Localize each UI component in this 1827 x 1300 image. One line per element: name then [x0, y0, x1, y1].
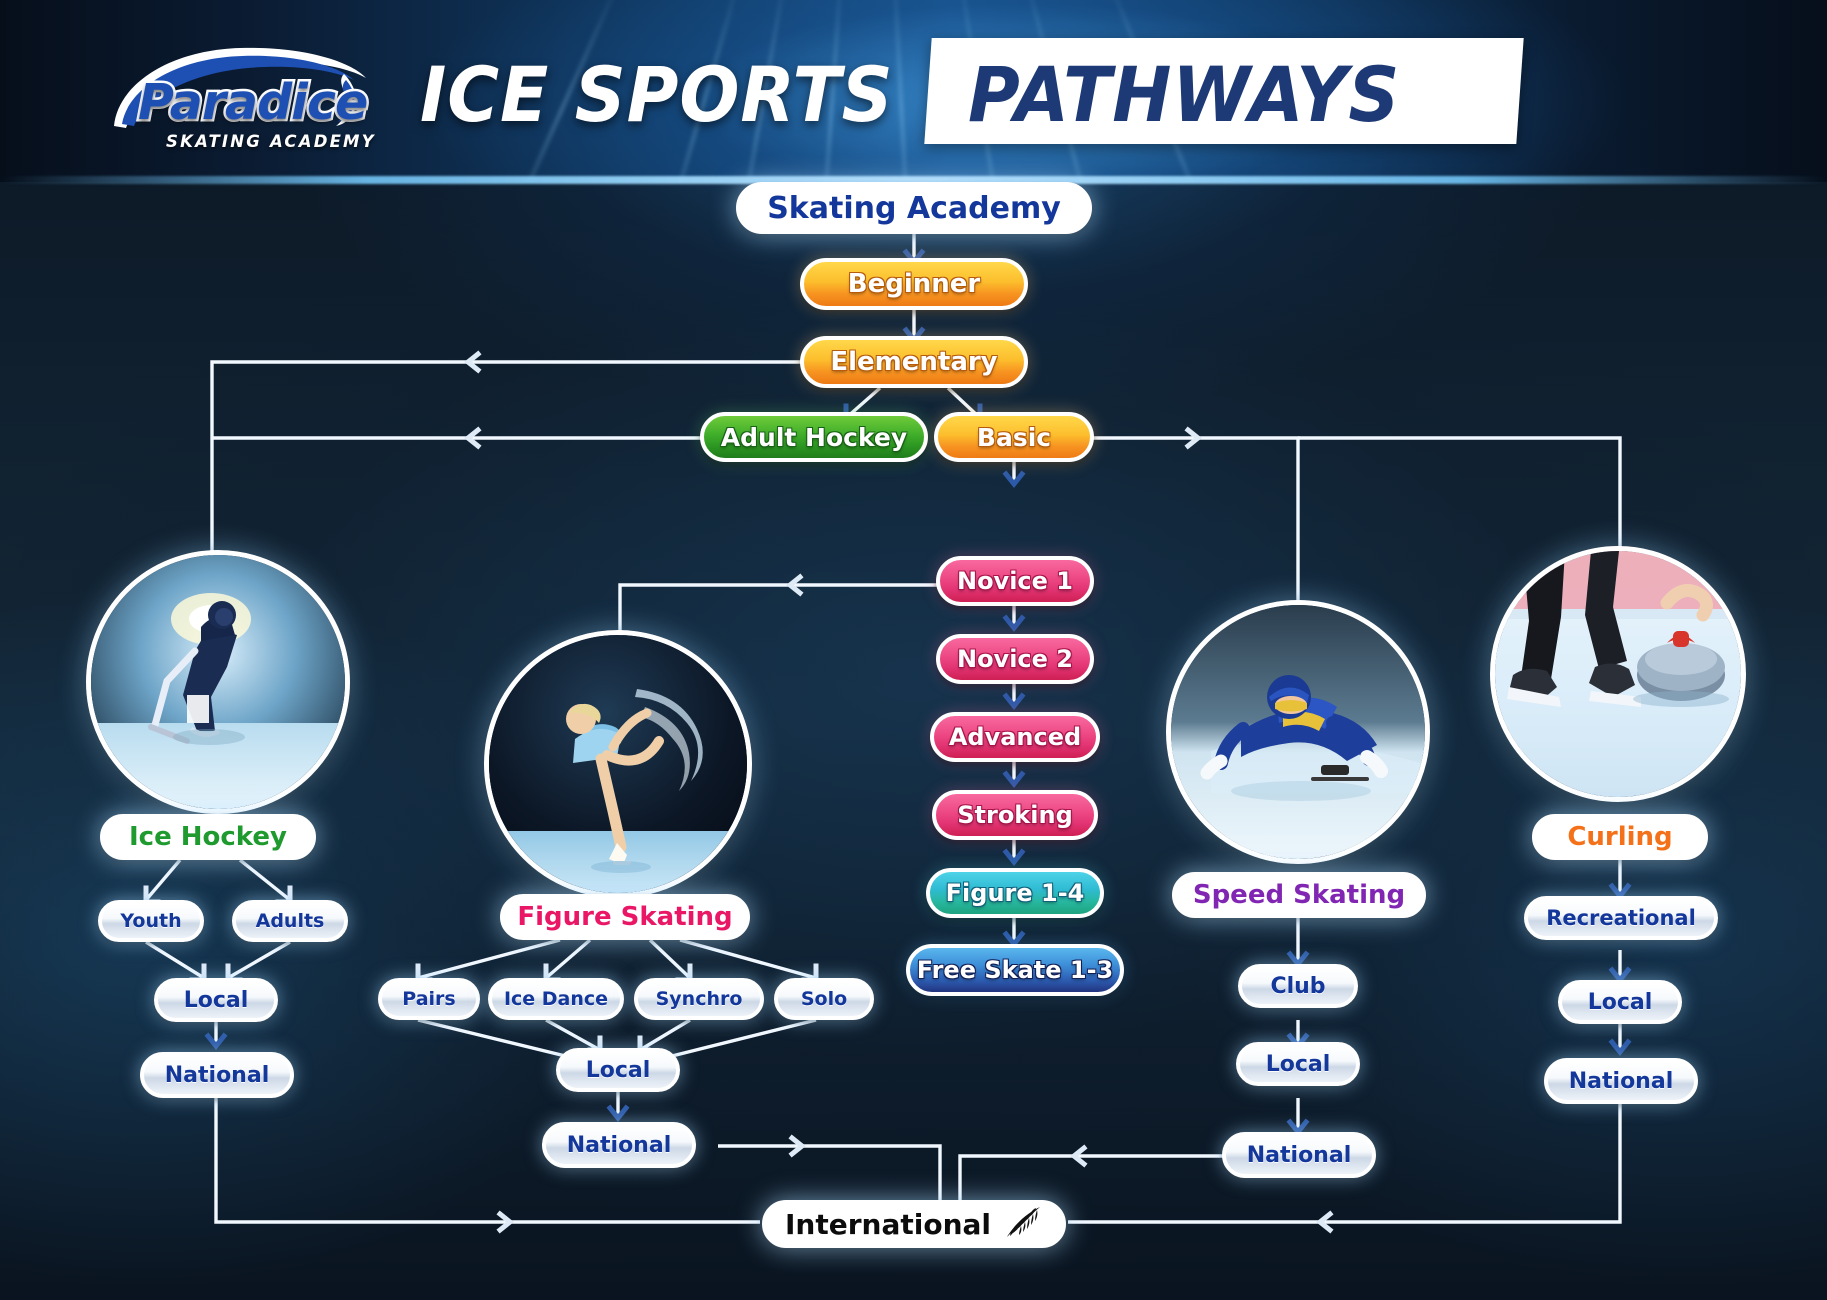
node-figure-skating-solo[interactable]: Solo	[774, 978, 874, 1020]
node-label: Beginner	[848, 269, 980, 299]
node-elementary[interactable]: Elementary	[800, 336, 1028, 388]
node-label: Pairs	[402, 988, 455, 1010]
node-figure-skating-pairs[interactable]: Pairs	[378, 978, 480, 1020]
node-label: Solo	[801, 988, 847, 1010]
paradice-logo: Paradice SKATING ACADEMY	[108, 40, 378, 158]
node-figure-skating-synchro[interactable]: Synchro	[634, 978, 764, 1020]
node-ice-hockey-adults[interactable]: Adults	[232, 900, 348, 942]
node-curling-recreational[interactable]: Recreational	[1524, 896, 1718, 940]
node-label: Ice Dance	[504, 988, 608, 1010]
node-label: International	[785, 1208, 991, 1241]
logo-wordmark: Paradice	[138, 74, 367, 131]
node-label: Local	[184, 988, 249, 1013]
node-label: Figure 1-4	[946, 879, 1085, 907]
node-label: Novice 2	[957, 645, 1073, 673]
node-figure-skating-national[interactable]: National	[542, 1122, 696, 1168]
node-label: Youth	[120, 910, 181, 932]
node-label: Curling	[1567, 822, 1672, 852]
node-novice-2[interactable]: Novice 2	[936, 634, 1094, 684]
node-label: Elementary	[830, 347, 997, 377]
curling-photo	[1490, 546, 1746, 802]
node-speed-skating-club[interactable]: Club	[1238, 964, 1358, 1008]
node-label: Local	[1266, 1052, 1331, 1077]
node-label: Ice Hockey	[129, 822, 287, 852]
node-curling[interactable]: Curling	[1532, 814, 1708, 860]
node-ice-hockey[interactable]: Ice Hockey	[100, 814, 316, 860]
node-speed-skating-local[interactable]: Local	[1236, 1042, 1360, 1086]
node-label: National	[1247, 1143, 1351, 1168]
title-ice-sports: ICE SPORTS	[420, 50, 894, 139]
node-label: Skating Academy	[767, 191, 1061, 226]
node-novice-1[interactable]: Novice 1	[936, 556, 1094, 606]
node-label: Adults	[256, 910, 325, 932]
node-label: Synchro	[656, 988, 743, 1010]
node-label: National	[165, 1063, 269, 1088]
node-label: Local	[1588, 990, 1653, 1015]
node-speed-skating-national[interactable]: National	[1222, 1132, 1376, 1178]
node-ice-hockey-local[interactable]: Local	[154, 978, 278, 1022]
node-label: Advanced	[949, 723, 1081, 751]
silver-fern-icon	[1003, 1204, 1043, 1245]
node-curling-local[interactable]: Local	[1558, 980, 1682, 1024]
page-header: Paradice SKATING ACADEMY ICE SPORTS PATH…	[0, 0, 1827, 182]
node-basic[interactable]: Basic	[934, 412, 1094, 462]
node-international[interactable]: International	[762, 1200, 1066, 1248]
node-speed-skating[interactable]: Speed Skating	[1172, 872, 1426, 918]
node-stroking[interactable]: Stroking	[932, 790, 1098, 840]
node-label: Figure Skating	[517, 902, 732, 932]
node-figure-skating[interactable]: Figure Skating	[500, 894, 750, 940]
node-label: Recreational	[1546, 906, 1696, 930]
node-label: National	[1569, 1069, 1673, 1094]
node-figure-skating-local[interactable]: Local	[556, 1048, 680, 1092]
title-pathways: PATHWAYS	[968, 50, 1400, 139]
figure-skating-photo	[484, 630, 752, 898]
node-ice-hockey-national[interactable]: National	[140, 1052, 294, 1098]
node-figure-1-4[interactable]: Figure 1-4	[926, 868, 1104, 918]
node-label: Basic	[977, 423, 1051, 452]
node-label: Stroking	[957, 801, 1073, 829]
infographic-canvas: Paradice SKATING ACADEMY ICE SPORTS PATH…	[0, 0, 1827, 1300]
node-advanced[interactable]: Advanced	[930, 712, 1100, 762]
node-label: National	[567, 1133, 671, 1158]
node-label: Novice 1	[957, 567, 1073, 595]
node-curling-national[interactable]: National	[1544, 1058, 1698, 1104]
node-skating-academy[interactable]: Skating Academy	[736, 182, 1092, 234]
ice-hockey-photo	[86, 550, 350, 814]
node-label: Club	[1270, 974, 1325, 999]
node-label: Free Skate 1-3	[917, 956, 1114, 984]
node-label: Speed Skating	[1193, 880, 1405, 910]
node-label: Adult Hockey	[721, 423, 907, 452]
node-free-skate-1-3[interactable]: Free Skate 1-3	[906, 944, 1124, 996]
node-figure-skating-ice-dance[interactable]: Ice Dance	[488, 978, 624, 1020]
node-beginner[interactable]: Beginner	[800, 258, 1028, 310]
node-adult-hockey[interactable]: Adult Hockey	[700, 412, 928, 462]
node-ice-hockey-youth[interactable]: Youth	[98, 900, 204, 942]
speed-skating-photo	[1166, 600, 1430, 864]
node-label: Local	[586, 1058, 651, 1083]
logo-subtitle: SKATING ACADEMY	[166, 132, 376, 151]
